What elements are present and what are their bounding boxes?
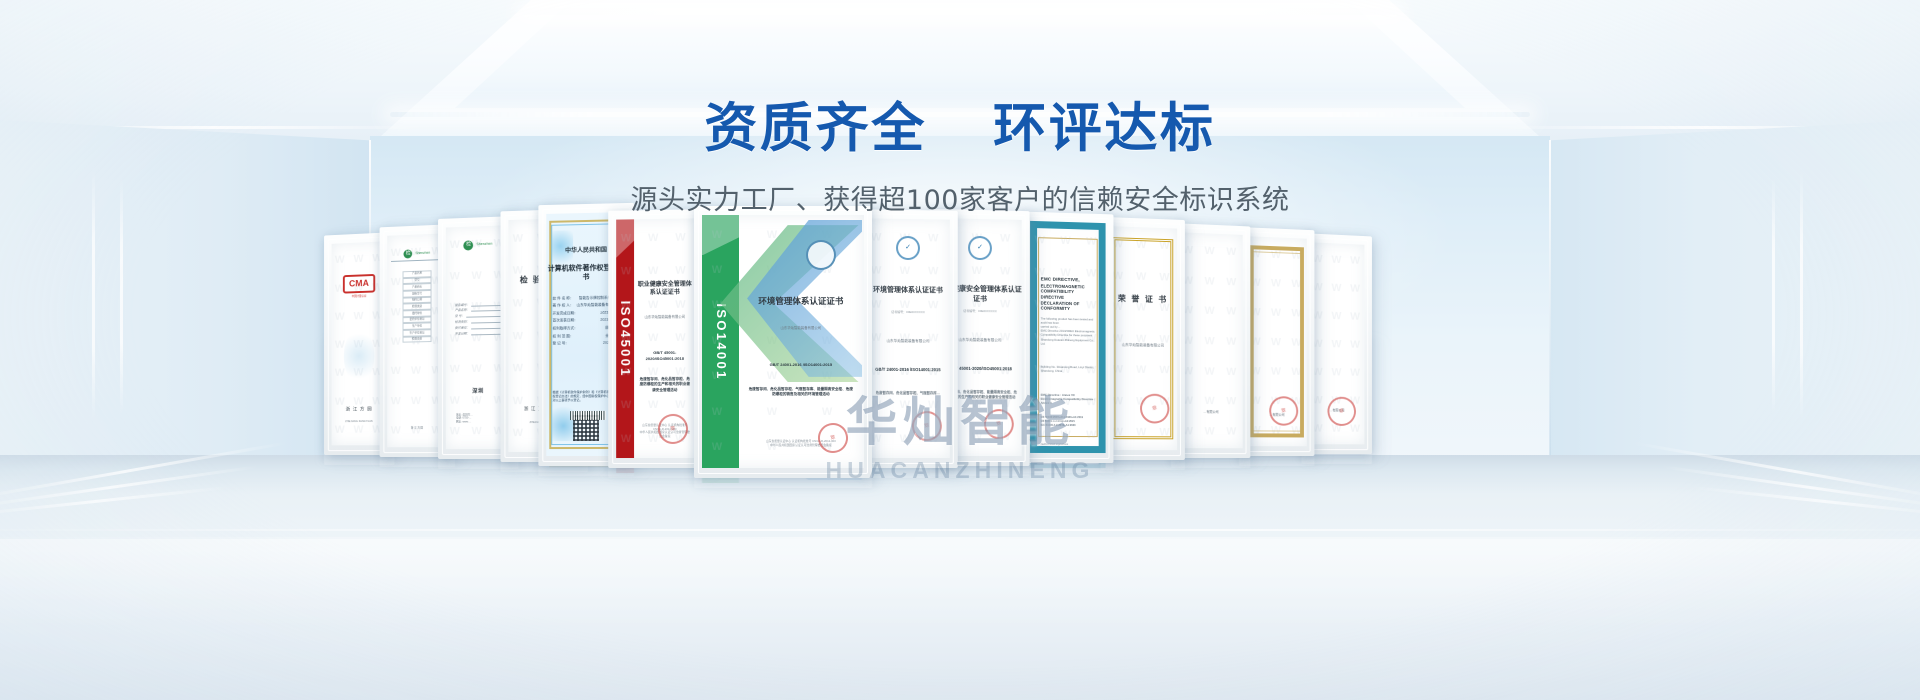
field-label: 委托单位： bbox=[455, 326, 470, 330]
field-label: 报告编号： bbox=[455, 302, 470, 306]
field-label: 权利取得方式： bbox=[553, 326, 578, 331]
official-seal: 章 bbox=[655, 410, 691, 446]
official-seal: 章 bbox=[815, 420, 851, 456]
certificate-cert-ce-emc[interactable]: WWWWWWWWWWWWWWWWWWWWWEMC DIRECTIVE,ELECT… bbox=[1022, 212, 1113, 463]
ce-address-line-1: Shandong, China bbox=[1041, 369, 1098, 374]
ce-standard-line-2: IEC 61000-4-2:2019+A1:2020 bbox=[1041, 424, 1098, 428]
field-label: 型 号： bbox=[455, 314, 465, 318]
certificate-paper: WWWWWWWWWWWWWWWWWWWWW…有限公司 bbox=[1179, 232, 1243, 448]
barcode bbox=[570, 410, 606, 419]
cert-title: 环境管理体系认证证书 bbox=[744, 296, 857, 307]
org-name: Shenzhen bbox=[476, 242, 492, 247]
org-logo-icon: 检 bbox=[464, 240, 474, 250]
page-title: 资质齐全 环评达标 bbox=[0, 86, 1920, 162]
field-label: 产品名称： bbox=[455, 308, 470, 312]
field-label: 权 利 范 围： bbox=[553, 334, 574, 339]
field-value-blank bbox=[471, 302, 501, 307]
field-value-blank bbox=[471, 307, 501, 312]
field-value-blank bbox=[471, 325, 501, 330]
field-label: 首次发表日期： bbox=[553, 319, 578, 324]
cma-mark-sub: 中国计量认证 bbox=[332, 294, 387, 299]
official-seal: 章 bbox=[1324, 394, 1359, 429]
field-label: 签发日期： bbox=[455, 332, 470, 336]
cert-scope: 危废暂存间、危化品暂存柜、气瓶暂存库… bbox=[870, 391, 946, 396]
certificate-cert-gold-frame[interactable]: WWWWWWWWWWWWWWWWWWWWW…有限公司章 bbox=[1239, 227, 1314, 456]
official-seal: 章 bbox=[980, 406, 1016, 442]
ce-body-line-4: Shandong Huacan Zhineng Equipment Co., L… bbox=[1041, 337, 1098, 346]
field-value-blank bbox=[471, 319, 501, 324]
ce-title-line-2: DECLARATION OF CONFORMITY bbox=[1041, 300, 1098, 312]
watermark-blob bbox=[344, 327, 375, 384]
certificate-paper: WWWWWWWWWWWWWWWWWWWWW…有限公司章 bbox=[1247, 236, 1307, 446]
cert-number: 证书编号：00E00XXXXX bbox=[866, 309, 950, 314]
banner-stage: WWWWWWWWWWWWWWWWWWWWWCMA中国计量认证浙 江 方 圆ZHE… bbox=[0, 0, 1920, 700]
cert-scope: 危废暂存间、危化品暂存柜、危废防爆柜的生产和相关的职业健康安全管理活动 bbox=[639, 377, 691, 393]
paper-watermark: WWWWWWWWWWWWWWWWWWWWW bbox=[1179, 232, 1243, 448]
cert-title: 环境管理体系认证证书 bbox=[866, 285, 950, 295]
cert-company: 山东华灿智能装备有限公司 bbox=[866, 338, 950, 344]
official-seal: 章 bbox=[908, 408, 944, 444]
certificate-paper: ISO45001WWWWWWWWWWWWWWWWWWWWW职业健康安全管理体系认… bbox=[616, 218, 696, 458]
cert-scope: 危废暂存间、危化品暂存柜、气瓶暂存库、能量隔离安全柜、危废防爆柜的销售及相关的环… bbox=[749, 387, 853, 398]
field-label: 开发完成日期： bbox=[553, 311, 578, 316]
cert-footer: 浙 江 方 圆 bbox=[332, 407, 387, 414]
cert-standard-line: GB/T 24001-2016 /ISO14001:2015 bbox=[744, 362, 857, 367]
certificate-frame: WWWWWWWWWWWWWWWWWWWWW✓环境管理体系认证证书证书编号：00E… bbox=[858, 209, 958, 468]
field-label: 检测类别： bbox=[455, 320, 470, 324]
field-value-blank bbox=[466, 313, 501, 318]
certifier-logo-icon: ✓ bbox=[968, 235, 992, 259]
headline-block: 资质齐全 环评达标 源头实力工厂、获得超100家客户的信赖安全标识系统 bbox=[0, 86, 1920, 217]
headline-part-1: 资质齐全 bbox=[704, 98, 927, 159]
page-subtitle: 源头实力工厂、获得超100家客户的信赖安全标识系统 bbox=[0, 178, 1920, 217]
certificate-cert-iso14001-b[interactable]: WWWWWWWWWWWWWWWWWWWWW✓环境管理体系认证证书证书编号：00E… bbox=[858, 209, 958, 468]
field-label: 软 件 名 称： bbox=[553, 296, 574, 301]
footer-line-2: 网址: www.… bbox=[456, 421, 504, 425]
certificate-cert-iso14001[interactable]: ISO14001WWWWWWWWWWWWWWWWWWWWW环境管理体系认证证书山… bbox=[694, 206, 872, 478]
certificate-frame: ISO14001WWWWWWWWWWWWWWWWWWWWW环境管理体系认证证书山… bbox=[694, 206, 872, 478]
iso-standard-label: ISO14001 bbox=[712, 303, 730, 380]
field-label: 著 作 权 人： bbox=[553, 303, 574, 308]
ce-signature: Authorized signature bbox=[1041, 442, 1068, 446]
cert-footer-sub: ZHEJIANG FANGYUAN bbox=[332, 420, 387, 424]
org-name: Shenzhen bbox=[415, 251, 430, 256]
certificate-paper: WWWWWWWWWWWWWWWWWWWWWEMC DIRECTIVE,ELECT… bbox=[1030, 221, 1106, 453]
cert-footer: …有限公司 bbox=[1179, 409, 1243, 414]
cert-standard-line: GB/T 45001-2020/ISO45001:2018 bbox=[637, 350, 693, 361]
table-row: 检验项目 bbox=[403, 336, 432, 343]
certificate-cert-iso45001[interactable]: ISO45001WWWWWWWWWWWWWWWWWWWWW职业健康安全管理体系认… bbox=[608, 209, 704, 468]
iso-standard-label: ISO45001 bbox=[617, 300, 634, 377]
iso-color-bar: ISO14001 bbox=[702, 215, 739, 468]
cert-standard-line: GB/T 24001-2016 /ISO14001:2015 bbox=[866, 367, 950, 373]
iso-bar-flag bbox=[616, 219, 634, 257]
ce-annex-line-1: Electromagnetic Compatibility Directive … bbox=[1041, 397, 1098, 406]
certificate-paper: WWWWWWWWWWWWWWWWWWWWWCMA中国计量认证浙 江 方 圆ZHE… bbox=[332, 241, 387, 445]
certificate-frame: WWWWWWWWWWWWWWWWWWWWW…有限公司章 bbox=[1239, 227, 1314, 456]
certificate-frame: ISO45001WWWWWWWWWWWWWWWWWWWWW职业健康安全管理体系认… bbox=[608, 209, 704, 468]
cert-company: 山东华灿智能装备有限公司 bbox=[744, 326, 857, 331]
certificate-frame: WWWWWWWWWWWWWWWWWWWWWEMC DIRECTIVE,ELECT… bbox=[1022, 212, 1113, 463]
certificate-paper: WWWWWWWWWWWWWWWWWWWWW✓环境管理体系认证证书证书编号：00E… bbox=[866, 218, 950, 458]
cert-title: 荣 誉 证 书 bbox=[1109, 293, 1178, 305]
cma-mark: CMA bbox=[343, 274, 374, 293]
field-value-blank bbox=[471, 331, 501, 336]
iso-color-bar: ISO45001 bbox=[616, 219, 634, 458]
field-label: 登 记 号： bbox=[553, 342, 569, 347]
headline-part-2: 环评达标 bbox=[993, 98, 1216, 159]
iso-bar-flag bbox=[702, 215, 739, 255]
cert-title: 职业健康安全管理体系认证证书 bbox=[637, 281, 693, 298]
certificate-paper: ISO14001WWWWWWWWWWWWWWWWWWWWW环境管理体系认证证书山… bbox=[702, 215, 864, 468]
certificate-paper: WWWWWWWWWWWWWWWWWWWWW…有限公司章 bbox=[1309, 242, 1364, 444]
ce-title-line-1: ELECTROMAGNETIC COMPATIBILITY DIRECTIVE bbox=[1041, 283, 1098, 301]
org-logo-icon: 检 bbox=[404, 250, 413, 259]
certificate-paper: WWWWWWWWWWWWWWWWWWWWW荣 誉 证 书山东华灿智能装备有限公司… bbox=[1109, 226, 1178, 450]
certifier-logo-icon: ✓ bbox=[896, 236, 920, 260]
cert-company: 山东华灿智能装备有限公司 bbox=[637, 314, 693, 319]
